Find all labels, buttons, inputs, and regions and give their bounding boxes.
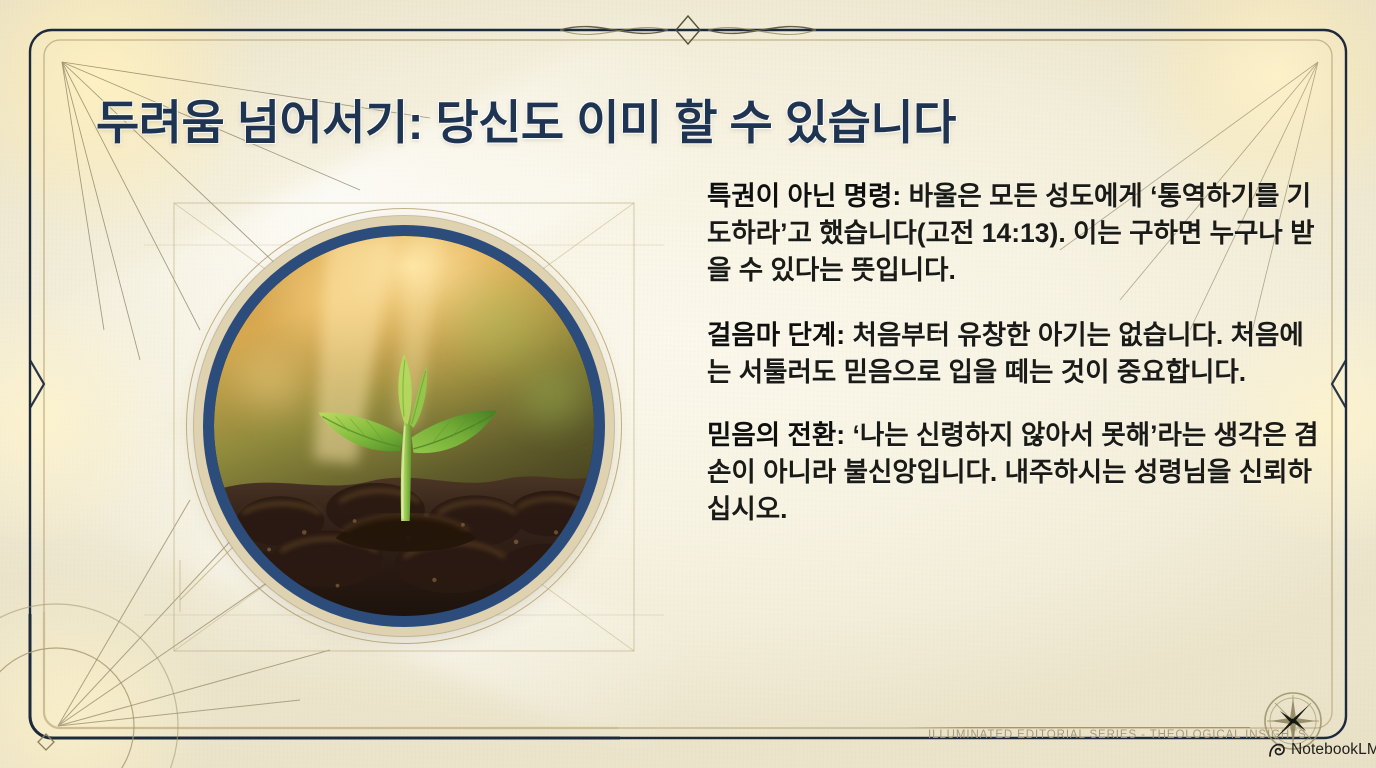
seedling-photo: [214, 236, 594, 616]
paragraph-3: 믿음의 전환: ‘나는 신령하지 않아서 못해’라는 생각은 겸손이 아니라 불…: [707, 417, 1327, 528]
medallion-ring-stack: [203, 225, 605, 627]
right-edge-chevron: [1332, 360, 1346, 408]
left-edge-chevron: [30, 360, 44, 408]
notebooklm-branding: NotebookLM: [1268, 741, 1376, 759]
paragraph-2-lead: 걸음마 단계:: [707, 320, 845, 350]
top-center-ornament: [560, 16, 816, 44]
paragraph-1-lead: 특권이 아닌 명령:: [707, 181, 901, 211]
slide-title: 두려움 넘어서기: 당신도 이미 할 수 있습니다: [96, 84, 956, 153]
footer-divider: [905, 727, 1250, 728]
medallion-navy-ring: [203, 225, 605, 627]
footer-series-label: ILLUMINATED EDITORIAL SERIES - THEOLOGIC…: [928, 729, 1307, 741]
notebooklm-logo-icon: [1268, 743, 1285, 758]
paragraph-2: 걸음마 단계: 처음부터 유창한 아기는 없습니다. 처음에는 서툴러도 믿음으…: [707, 317, 1327, 391]
notebooklm-wordmark: NotebookLM: [1291, 741, 1376, 759]
slide-canvas: 두려움 넘어서기: 당신도 이미 할 수 있습니다: [0, 0, 1376, 768]
body-text-column: 특권이 아닌 명령: 바울은 모든 성도에게 ‘통역하기를 기도하라’고 했습니…: [707, 178, 1327, 528]
image-medallion: [124, 185, 684, 675]
paragraph-1: 특권이 아닌 명령: 바울은 모든 성도에게 ‘통역하기를 기도하라’고 했습니…: [707, 178, 1327, 289]
paragraph-3-lead: 믿음의 전환:: [707, 420, 845, 450]
